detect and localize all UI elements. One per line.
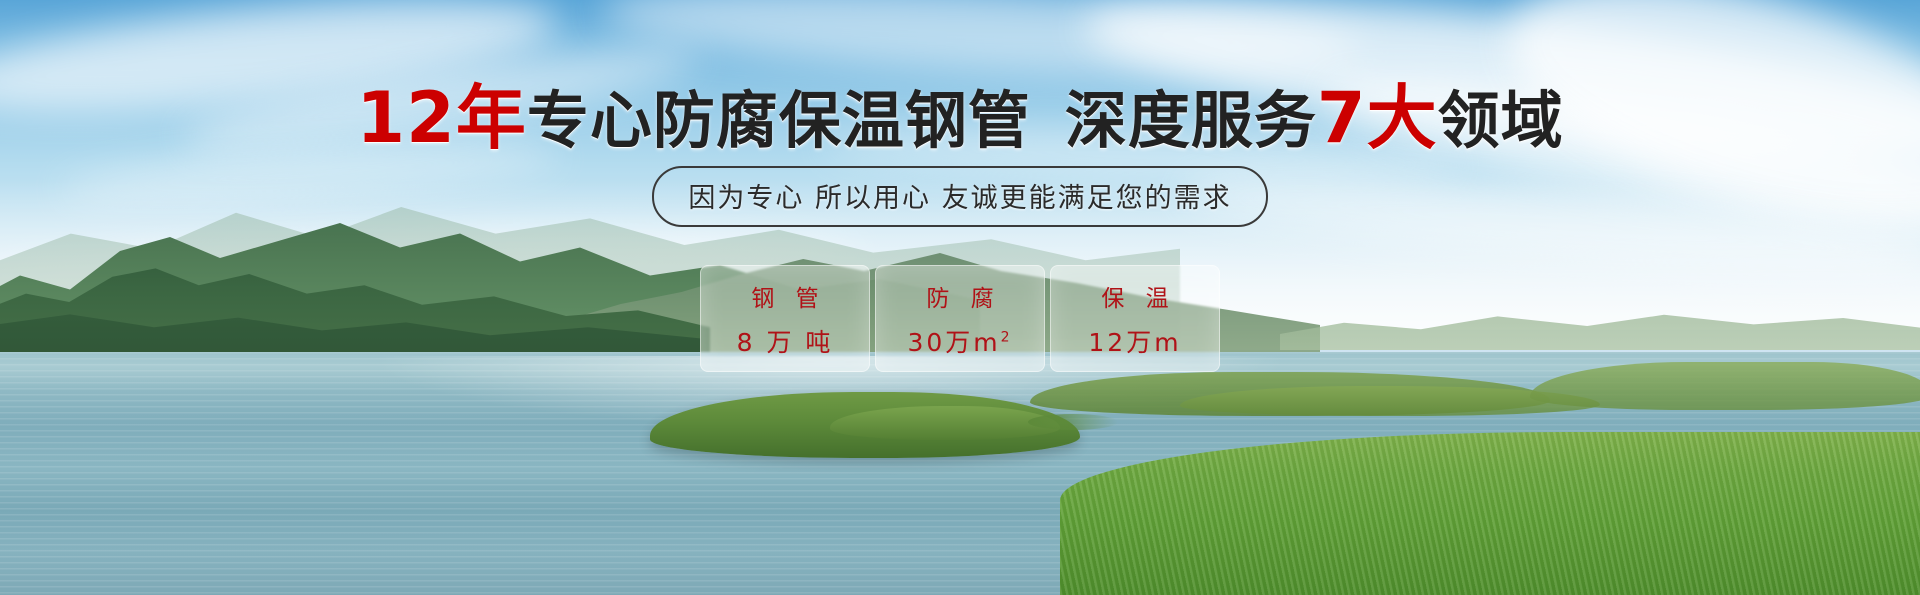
stat-card-value: 8 万 吨 <box>737 323 834 359</box>
stat-card-value: 12万m <box>1088 323 1181 359</box>
headline-seven-red: 7大 <box>1317 77 1438 159</box>
banner-headline: 12年专心防腐保温钢管深度服务7大领域 <box>0 82 1920 156</box>
headline-fields: 领域 <box>1438 84 1564 157</box>
banner-subtitle-pill: 因为专心 所以用心 友诚更能满足您的需求 <box>652 166 1267 227</box>
stat-card-value-text: 8 万 吨 <box>737 328 834 357</box>
stat-card-value-text: 30万m <box>907 328 1000 357</box>
stat-cards: 钢 管 8 万 吨 防 腐 30万m2 保 温 12万m <box>0 265 1920 372</box>
stat-card-title: 防 腐 <box>919 279 1000 313</box>
headline-service: 深度服务 <box>1065 84 1317 157</box>
headline-years-red: 12年 <box>356 77 526 159</box>
stat-card-anticorrosion[interactable]: 防 腐 30万m2 <box>875 265 1045 372</box>
hero-banner: 12年专心防腐保温钢管深度服务7大领域 因为专心 所以用心 友诚更能满足您的需求… <box>0 0 1920 595</box>
foreground-grass <box>1060 432 1920 595</box>
grass-island-tip <box>1028 414 1118 430</box>
stat-card-value: 30万m2 <box>907 323 1012 359</box>
stat-card-title: 保 温 <box>1094 279 1175 313</box>
stat-card-unit-superscript: 2 <box>1001 329 1013 345</box>
stat-card-insulation[interactable]: 保 温 12万m <box>1050 265 1220 372</box>
stat-card-title: 钢 管 <box>744 279 825 313</box>
stat-card-steel-pipe[interactable]: 钢 管 8 万 吨 <box>700 265 870 372</box>
grass-island-2 <box>830 406 1060 440</box>
banner-subtitle-wrap: 因为专心 所以用心 友诚更能满足您的需求 <box>0 166 1920 227</box>
stat-card-value-text: 12万m <box>1088 328 1181 357</box>
headline-main: 专心防腐保温钢管 <box>527 84 1031 157</box>
